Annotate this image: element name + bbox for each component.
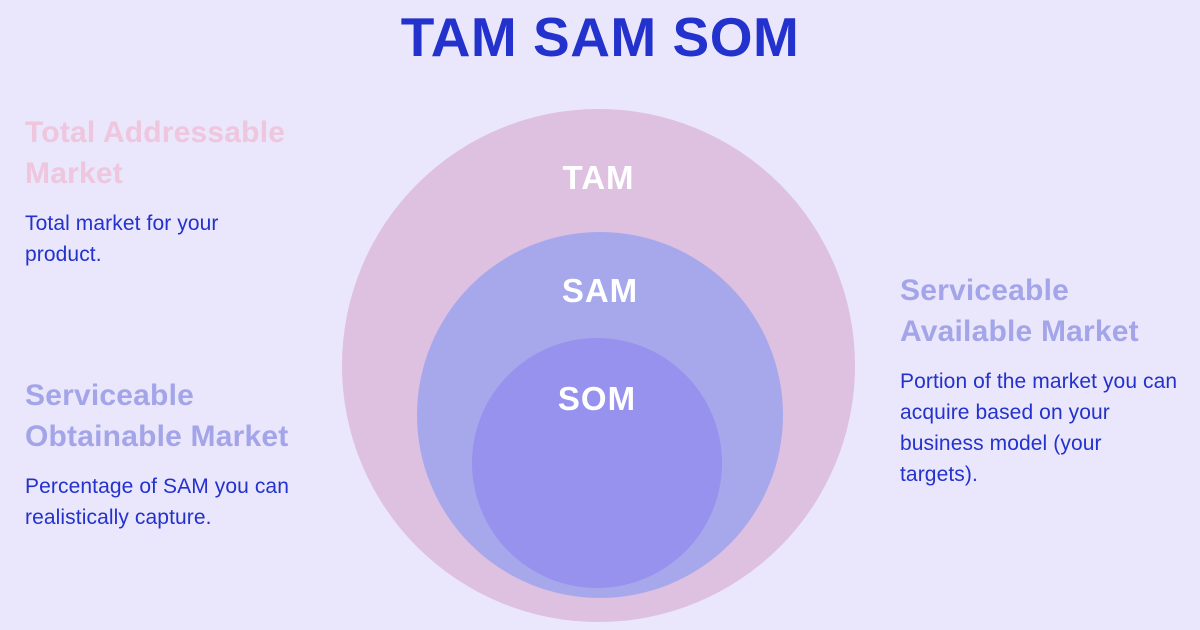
description-block-som: Serviceable Obtainable Market Percentage… [25,375,295,533]
heading-serviceable-available-market: Serviceable Available Market [900,270,1185,352]
body-total-addressable-market: Total market for your product. [25,208,295,270]
heading-serviceable-obtainable-market: Serviceable Obtainable Market [25,375,295,457]
body-serviceable-available-market: Portion of the market you can acquire ba… [900,366,1185,490]
circle-label-som: SOM [472,380,722,418]
heading-total-addressable-market: Total Addressable Market [25,112,295,194]
circle-som: SOM [472,338,722,588]
description-block-tam: Total Addressable Market Total market fo… [25,112,295,270]
description-block-sam: Serviceable Available Market Portion of … [900,270,1185,491]
body-serviceable-obtainable-market: Percentage of SAM you can realistically … [25,471,295,533]
circle-label-tam: TAM [342,159,855,197]
circle-label-sam: SAM [417,272,783,310]
infographic-canvas: TAM SAM SOM TAM SAM SOM Total Addressabl… [0,0,1200,630]
